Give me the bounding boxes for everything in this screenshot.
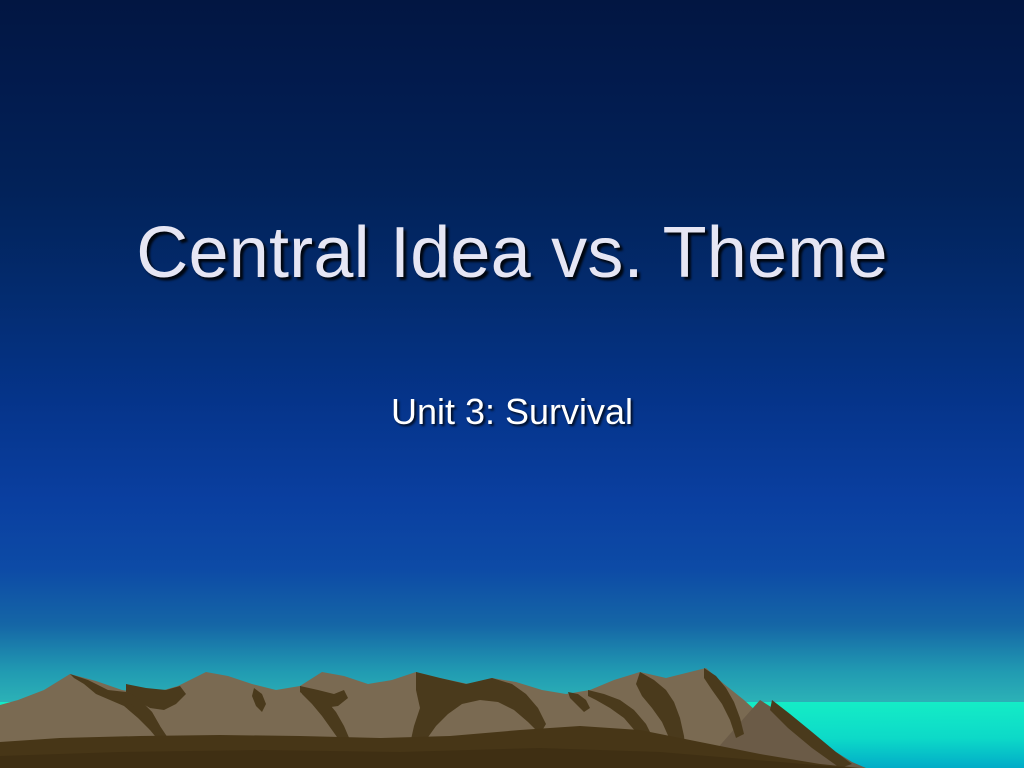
slide-text-layer: Central Idea vs. Theme Unit 3: Survival [0,0,1024,768]
slide-title: Central Idea vs. Theme [0,216,1024,292]
presentation-slide: Central Idea vs. Theme Unit 3: Survival [0,0,1024,768]
slide-subtitle: Unit 3: Survival [0,391,1024,433]
